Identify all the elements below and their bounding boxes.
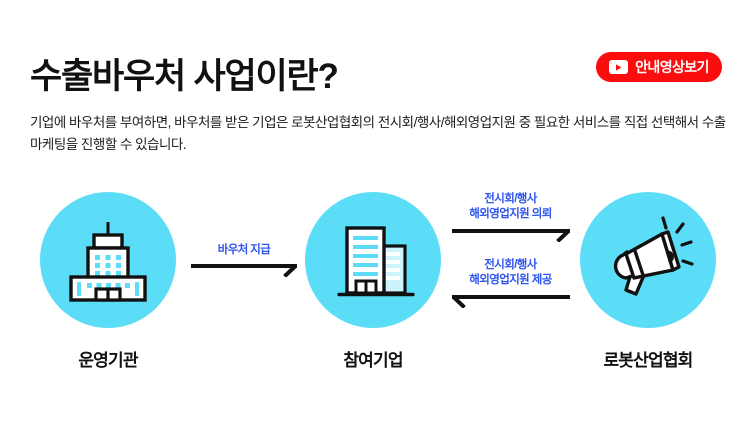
connector-provide-line-2: 해외영업지원 제공 — [469, 274, 551, 286]
play-icon — [609, 60, 628, 74]
connector-provide-caption: 전시회/행사 해외영업지원 제공 — [448, 258, 573, 288]
lead-paragraph: 기업에 바우처를 부여하면, 바우처를 받은 기업은 로봇산업협회의 전시회/행… — [30, 112, 730, 156]
connector-request-line-1: 전시회/행사 — [484, 193, 537, 205]
diagram-node-association: 로봇산업협회 — [580, 192, 716, 371]
lead-line-2: 마케팅을 진행할 수 있습니다. — [30, 134, 730, 156]
association-circle — [580, 192, 716, 328]
company-label: 참여기업 — [305, 346, 441, 371]
watch-video-button[interactable]: 안내영상보기 — [596, 52, 722, 82]
agency-circle — [40, 192, 176, 328]
government-building-icon — [62, 214, 154, 306]
watch-video-label: 안내영상보기 — [635, 60, 709, 74]
connector-request: 전시회/행사 해외영업지원 의뢰 — [448, 192, 573, 242]
connector-voucher: 바우처 지급 — [188, 243, 300, 277]
connector-provide-line-1: 전시회/행사 — [484, 259, 537, 271]
agency-label: 운영기관 — [40, 346, 176, 371]
connector-provide: 전시회/행사 해외영업지원 제공 — [448, 258, 573, 308]
arrow-left-icon — [452, 294, 570, 308]
company-circle — [305, 192, 441, 328]
association-label: 로봇산업협회 — [580, 346, 716, 371]
connector-voucher-caption: 바우처 지급 — [188, 243, 300, 258]
diagram-node-company: 참여기업 — [305, 192, 441, 371]
infographic-page: 수출바우처 사업이란? 안내영상보기 기업에 바우처를 부여하면, 바우처를 받… — [0, 0, 750, 423]
arrow-right-icon — [452, 228, 570, 242]
connector-request-caption: 전시회/행사 해외영업지원 의뢰 — [448, 192, 573, 222]
page-title: 수출바우처 사업이란? — [30, 58, 338, 97]
office-buildings-icon — [327, 214, 419, 306]
diagram-node-agency: 운영기관 — [40, 192, 176, 371]
connector-request-line-2: 해외영업지원 의뢰 — [469, 208, 551, 220]
arrow-right-icon — [191, 263, 297, 277]
lead-line-1: 기업에 바우처를 부여하면, 바우처를 받은 기업은 로봇산업협회의 전시회/행… — [30, 112, 730, 134]
megaphone-icon — [602, 214, 694, 306]
